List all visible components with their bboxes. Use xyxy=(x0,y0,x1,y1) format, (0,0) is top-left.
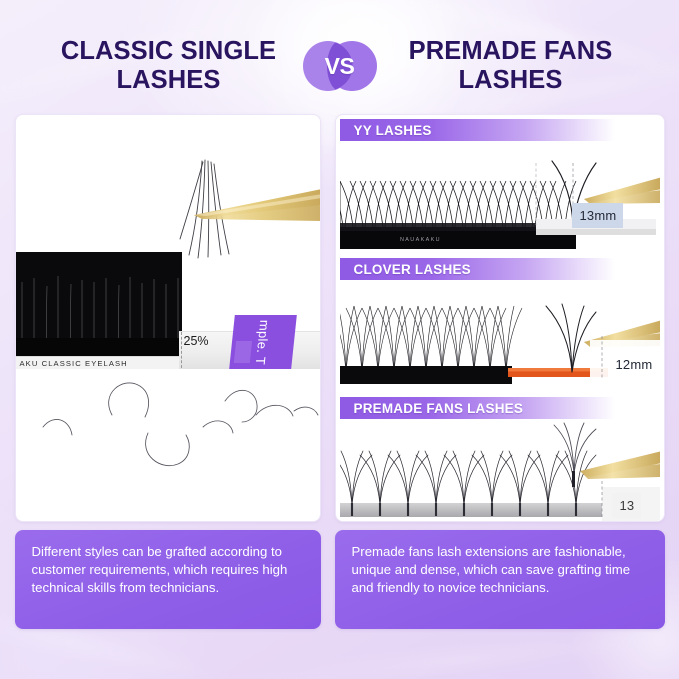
tweezer-upper xyxy=(194,189,321,221)
left-caption: Different styles can be grafted accordin… xyxy=(15,530,321,629)
section-title: PREMADE FANS LASHES xyxy=(340,401,524,416)
right-panel-title: PREMADE FANS LASHES xyxy=(377,37,645,94)
sample-tag: mple. T xyxy=(229,315,297,369)
single-premade-fan xyxy=(554,423,596,473)
light-streak xyxy=(251,633,670,679)
section-title: YY LASHES xyxy=(340,123,432,138)
vs-label: VS xyxy=(325,53,355,80)
section-image-clover: 12mm xyxy=(340,280,660,391)
sample-tag-text: mple. T xyxy=(253,319,273,364)
section-header-clover: CLOVER LASHES xyxy=(340,258,660,280)
panels-row: AKU CLASSIC EYELASH 25% mple. T Differen… xyxy=(0,114,679,629)
picked-lash-strands xyxy=(180,160,229,258)
classic-single-lashes-column: AKU CLASSIC EYELASH 25% mple. T Differen… xyxy=(15,114,321,629)
clover-fan-row xyxy=(340,306,522,372)
measurement-badge-yy: 13mm xyxy=(572,203,624,228)
section-yy-lashes: YY LASHES xyxy=(340,119,660,252)
yy-lashes-illustration: NAUAKAKU xyxy=(340,141,660,252)
classic-lashes-image-card: AKU CLASSIC EYELASH 25% mple. T xyxy=(15,114,321,522)
percentage-label: 25% xyxy=(184,334,209,348)
section-title: CLOVER LASHES xyxy=(340,262,471,277)
premade-fan-row xyxy=(340,451,596,505)
section-image-premade: 13 xyxy=(340,419,660,522)
section-header-premade: PREMADE FANS LASHES xyxy=(340,397,660,419)
right-caption: Premade fans lash extensions are fashion… xyxy=(335,530,665,629)
vs-badge: VS xyxy=(303,38,377,94)
section-clover-lashes: CLOVER LASHES xyxy=(340,258,660,391)
tweezer-premade xyxy=(580,451,660,479)
measurement-badge-premade: 13 xyxy=(612,493,642,518)
measurement-badge-clover: 12mm xyxy=(608,352,660,377)
svg-text:NAUAKAKU: NAUAKAKU xyxy=(400,237,441,243)
comparison-infographic: CLASSIC SINGLE LASHES VS PREMADE FANS LA… xyxy=(0,0,679,679)
section-header-yy: YY LASHES xyxy=(340,119,660,141)
premade-fans-column: YY LASHES xyxy=(335,114,665,629)
premade-fans-sections-card: YY LASHES xyxy=(335,114,665,522)
tweezer-yy xyxy=(584,177,660,204)
header: CLASSIC SINGLE LASHES VS PREMADE FANS LA… xyxy=(0,30,679,102)
loose-lash-curves xyxy=(43,383,318,466)
classic-lash-tray xyxy=(16,252,182,356)
left-panel-title: CLASSIC SINGLE LASHES xyxy=(35,37,303,94)
measure-tick-start xyxy=(181,332,182,368)
section-image-yy: NAUAKAKU xyxy=(340,141,660,252)
lash-tray-bristles xyxy=(16,252,182,356)
tray-brand-label: AKU CLASSIC EYELASH xyxy=(16,356,182,369)
single-clover-fan xyxy=(546,304,596,372)
section-premade-fans-lashes: PREMADE FANS LASHES xyxy=(340,397,660,522)
